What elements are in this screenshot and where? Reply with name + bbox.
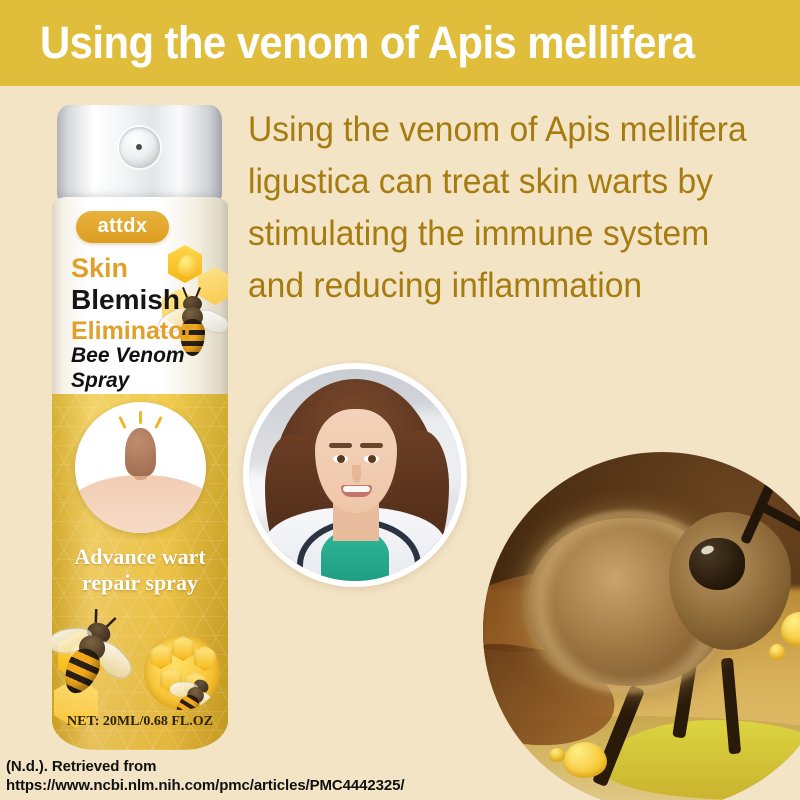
honeycomb-cell [150,644,172,669]
product-name-line-2: Blemish [71,284,180,316]
page-title: Using the venom of Apis mellifera [40,17,694,69]
bottle-body: attdx Skin Blemish Eliminator Bee Venom … [52,197,228,750]
doctor-eyebrow [360,443,383,448]
body-paragraph: Using the venom of Apis mellifera ligust… [248,104,747,312]
product-name-line-3: Eliminator [71,317,193,346]
honey-drop-icon [769,644,785,660]
bottle-cap [57,105,222,201]
product-claim-line-2: repair spray [82,570,198,595]
doctor-eye [333,455,348,463]
header-banner: Using the venom of Apis mellifera [0,0,800,86]
doctor-eyebrow [329,443,352,448]
doctor-teeth [343,486,370,492]
spray-nozzle-icon [119,127,160,168]
bee-photo-eye [689,538,745,590]
product-spray-bottle: attdx Skin Blemish Eliminator Bee Venom … [52,105,228,750]
honeycomb-cell [172,636,194,661]
sparkle-ray-icon [139,411,142,424]
sparkle-ray-icon [154,416,162,429]
honey-drop-icon [178,255,198,277]
net-contents-label: NET: 20ML/0.68 FL.OZ [52,714,228,730]
bee-antenna [95,609,97,623]
product-claim-line-1: Advance wart [74,544,205,569]
product-claim: Advance wart repair spray [52,544,228,596]
wart-illustration-medallion [75,402,206,533]
product-label-top: attdx Skin Blemish Eliminator Bee Venom … [52,197,228,394]
product-label-bottom: Advance wart repair spray [52,394,228,750]
citation: (N.d.). Retrieved from https://www.ncbi.… [6,757,404,795]
doctor-photo [249,369,461,581]
bee-photo-circle [483,452,800,800]
product-subtitle-line-1: Bee Venom [71,344,185,367]
honeycomb-medallion [144,634,220,710]
sparkle-ray-icon [118,416,126,429]
honey-drop-icon [549,748,565,762]
honeycomb-cell [194,646,216,671]
product-subtitle: Bee Venom Spray [71,343,185,393]
skin-surface [75,475,206,533]
doctor-mouth [341,485,372,497]
doctor-nose [352,465,361,483]
product-subtitle-line-2: Spray [71,369,129,392]
brand-badge: attdx [76,211,169,243]
citation-line-1: (N.d.). Retrieved from [6,757,404,776]
citation-line-2: https://www.ncbi.nlm.nih.com/pmc/article… [6,776,404,795]
infographic-poster: Using the venom of Apis mellifera Using … [0,0,800,800]
honey-drop-icon [563,742,607,778]
doctor-photo-circle [243,363,467,587]
wart-lump [125,428,156,476]
product-name-line-1: Skin [71,253,128,284]
doctor-eye [364,455,379,463]
brand-name: attdx [76,215,169,238]
